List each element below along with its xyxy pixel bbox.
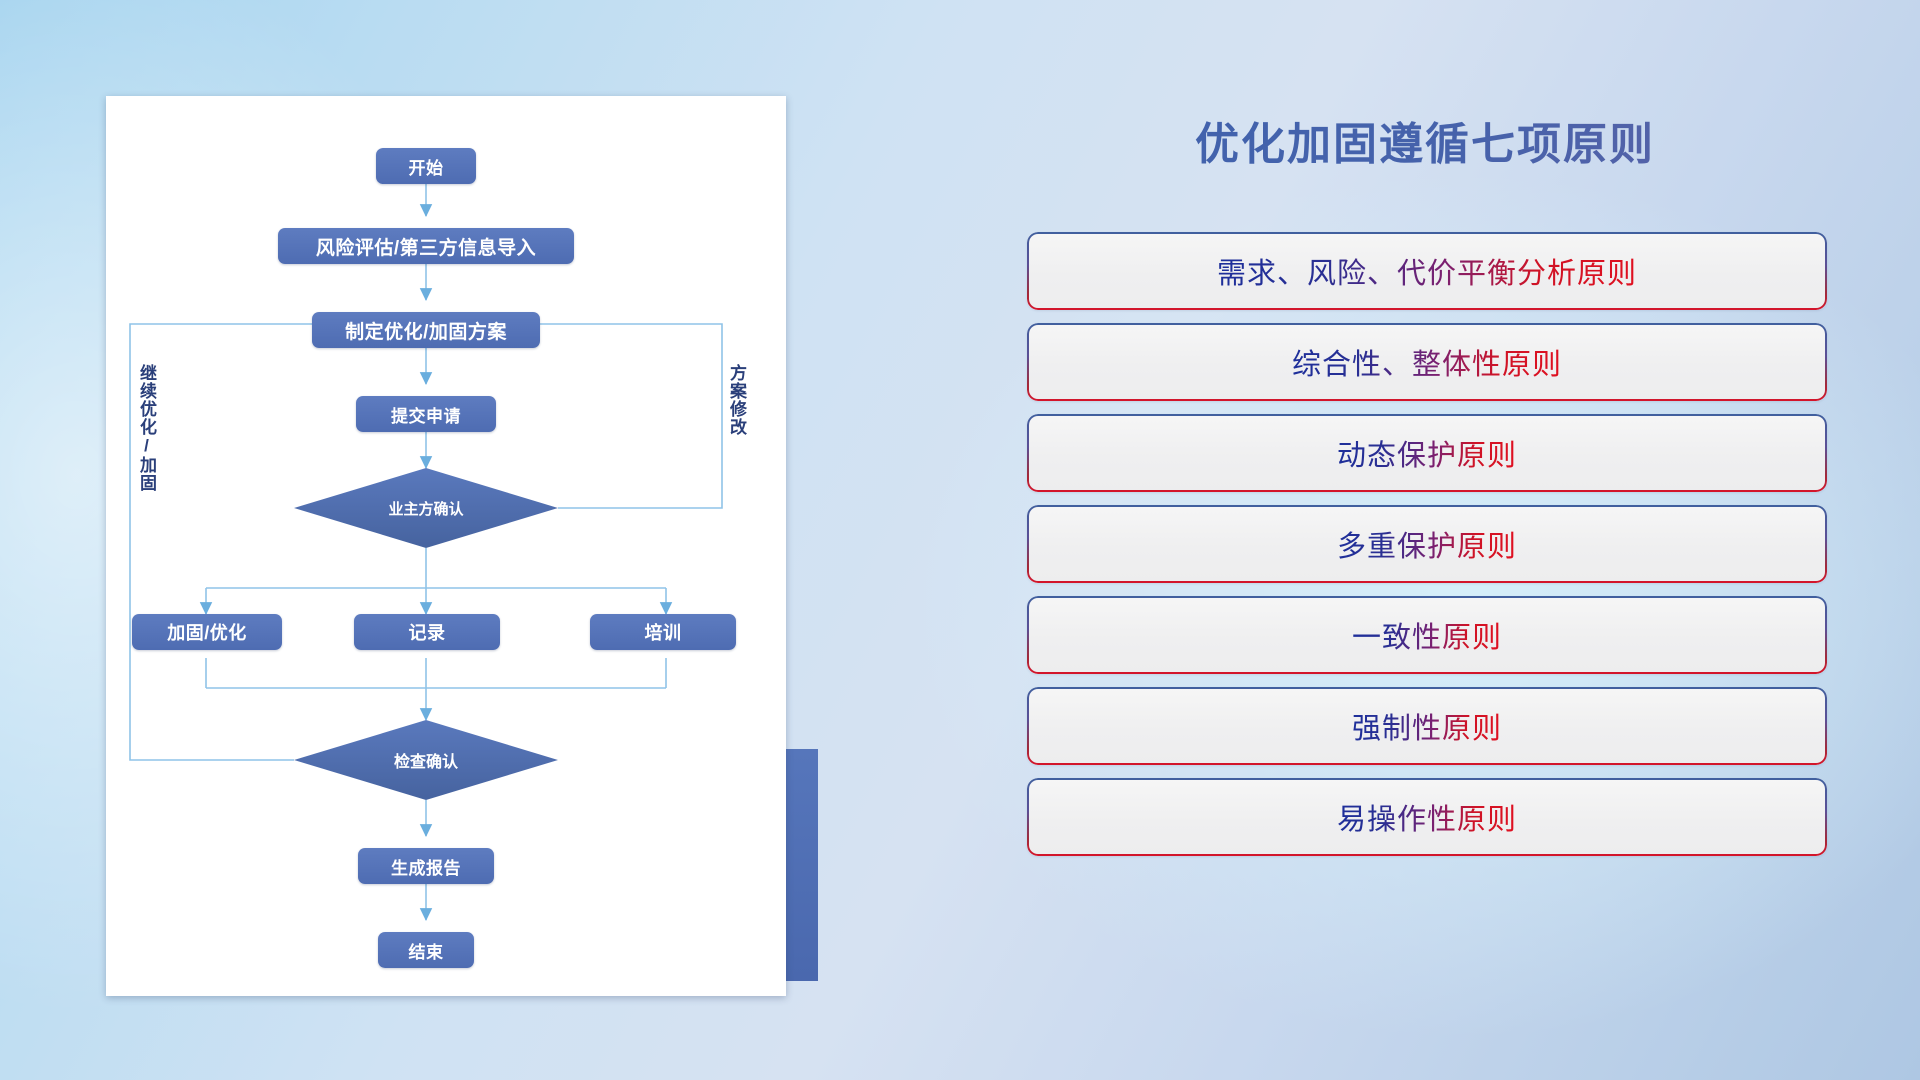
principle-label: 易操作性原则 xyxy=(1337,796,1517,838)
node-label: 生成报告 xyxy=(391,854,461,879)
principle-label: 强制性原则 xyxy=(1352,705,1502,747)
node-reinforce-optimize[interactable]: 加固/优化 xyxy=(132,614,282,650)
node-start[interactable]: 开始 xyxy=(376,148,476,184)
principles-title: 优化加固遵循七项原则 xyxy=(1010,108,1840,172)
principle-label: 一致性原则 xyxy=(1352,614,1502,656)
principle-item[interactable]: 易操作性原则 xyxy=(1027,778,1827,856)
edge-label-continue-optimize: 继续优化/加固 xyxy=(138,364,155,492)
flowchart-panel: 开始 风险评估/第三方信息导入 制定优化/加固方案 提交申请 业主方确认 加固/… xyxy=(0,0,830,1080)
edge-label-plan-revision: 方案修改 xyxy=(728,364,745,436)
node-make-plan[interactable]: 制定优化/加固方案 xyxy=(312,312,540,348)
decision-check-confirm xyxy=(294,720,558,800)
node-label: 提交申请 xyxy=(391,402,461,427)
principles-panel: 优化加固遵循七项原则 需求、风险、代价平衡分析原则 综合性、整体性原则 动态保护… xyxy=(1010,0,1920,1080)
principle-item[interactable]: 动态保护原则 xyxy=(1027,414,1827,492)
node-submit-application[interactable]: 提交申请 xyxy=(356,396,496,432)
principle-item[interactable]: 综合性、整体性原则 xyxy=(1027,323,1827,401)
principle-item[interactable]: 多重保护原则 xyxy=(1027,505,1827,583)
node-label: 开始 xyxy=(409,154,444,179)
principle-label: 综合性、整体性原则 xyxy=(1292,341,1562,383)
principle-label: 多重保护原则 xyxy=(1337,523,1517,565)
principle-item[interactable]: 强制性原则 xyxy=(1027,687,1827,765)
node-label: 结束 xyxy=(409,938,444,963)
node-risk-assessment[interactable]: 风险评估/第三方信息导入 xyxy=(278,228,574,264)
node-record[interactable]: 记录 xyxy=(354,614,500,650)
node-label: 制定优化/加固方案 xyxy=(345,317,507,344)
node-training[interactable]: 培训 xyxy=(590,614,736,650)
node-label: 培训 xyxy=(645,619,682,645)
principle-item[interactable]: 一致性原则 xyxy=(1027,596,1827,674)
principle-item[interactable]: 需求、风险、代价平衡分析原则 xyxy=(1027,232,1827,310)
decision-owner-confirm xyxy=(294,468,558,548)
node-label: 加固/优化 xyxy=(167,619,247,645)
node-label: 风险评估/第三方信息导入 xyxy=(316,233,536,260)
principle-label: 动态保护原则 xyxy=(1337,432,1517,474)
node-generate-report[interactable]: 生成报告 xyxy=(358,848,494,884)
node-label: 记录 xyxy=(409,619,446,645)
flowchart-card: 开始 风险评估/第三方信息导入 制定优化/加固方案 提交申请 业主方确认 加固/… xyxy=(106,96,786,996)
principles-list: 需求、风险、代价平衡分析原则 综合性、整体性原则 动态保护原则 多重保护原则 一… xyxy=(1027,232,1827,869)
principle-label: 需求、风险、代价平衡分析原则 xyxy=(1217,250,1637,292)
node-end[interactable]: 结束 xyxy=(378,932,474,968)
